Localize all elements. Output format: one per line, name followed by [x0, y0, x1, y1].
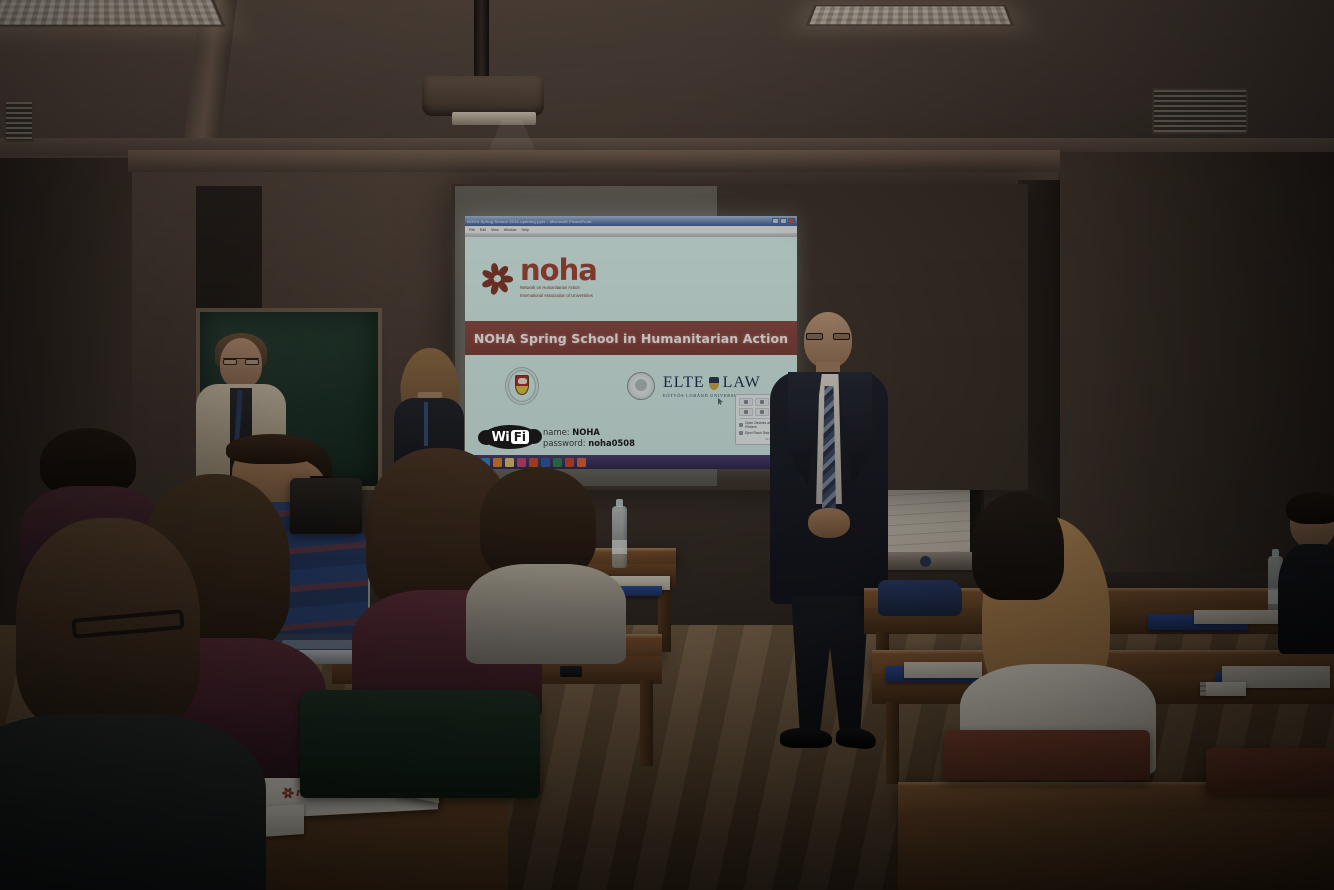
slide-app-title: NOHA Spring School 2016 opening.pptx - M…: [467, 219, 592, 224]
hair: [1286, 492, 1334, 524]
popup-device-icon[interactable]: [739, 408, 753, 416]
desk-front-panel: [898, 812, 1334, 890]
lanyard: [424, 402, 428, 446]
slide-title: NOHA Spring School in Humanitarian Actio…: [474, 331, 788, 346]
shoe-left: [780, 728, 832, 748]
chair: [944, 730, 1150, 780]
projector-lens-icon: [452, 112, 536, 125]
elte-shield-icon: [709, 377, 719, 390]
adobe-reader-icon[interactable]: [577, 458, 586, 467]
light-top: [466, 564, 626, 664]
slide-app-menubar[interactable]: File Edit View Window Help: [465, 226, 797, 233]
noha-logo: noha Network on Humanitarian Action Inte…: [481, 259, 597, 299]
word-icon[interactable]: [541, 458, 550, 467]
projector-mount-arm: [474, 0, 489, 80]
lecture-hall-photo: NOHA Spring School 2016 opening.pptx - M…: [0, 0, 1334, 890]
projected-slide: NOHA Spring School 2016 opening.pptx - M…: [465, 216, 797, 469]
wifi-name-value: NOHA: [572, 427, 600, 437]
noha-flower-icon: [481, 263, 513, 295]
eject-icon: [739, 431, 743, 435]
wifi-password-row: password: noha0508: [543, 438, 635, 448]
backpack: [878, 580, 962, 616]
wifi-badge-fi: Fi: [511, 430, 528, 444]
powerpoint-icon[interactable]: [565, 458, 574, 467]
wall-vent-right-icon: [1152, 88, 1248, 134]
menu-item-edit[interactable]: Edit: [480, 228, 486, 232]
popup-device-icon[interactable]: [739, 398, 753, 406]
slide-footer-region: ELTE LAW EÖTVÖS LORÁND UNIVERSITY Wi Fi: [465, 355, 797, 455]
desk-leg: [886, 702, 899, 784]
ceiling-light-panel: [806, 5, 1015, 26]
chair: [290, 478, 362, 534]
wall-soffit: [128, 150, 1060, 172]
spiral-notebook: [1200, 682, 1246, 696]
university-crest-icon: [505, 367, 539, 405]
noha-wordmark: noha: [520, 259, 597, 283]
trousers: [786, 596, 874, 738]
wifi-info: Wi Fi name: NOHA password: noha0508: [483, 425, 635, 449]
slide-canvas: noha Network on Humanitarian Action Inte…: [465, 237, 797, 469]
noha-tagline-line-2: International Association of Universitie…: [520, 293, 597, 299]
elte-seal-icon: [627, 372, 655, 400]
clasped-hands: [808, 508, 850, 538]
wifi-badge-wi: Wi: [491, 430, 509, 445]
slide-app-titlebar: NOHA Spring School 2016 opening.pptx - M…: [465, 216, 797, 226]
hair: [972, 492, 1064, 600]
flipchart-knob: [920, 556, 931, 567]
menu-item-window[interactable]: Window: [504, 228, 517, 232]
attendee-far-right: [1284, 496, 1334, 666]
wifi-password-value: noha0508: [588, 438, 635, 448]
slide-title-band: NOHA Spring School in Humanitarian Actio…: [465, 321, 797, 355]
ceiling-light-panel: [0, 0, 226, 27]
menu-item-help[interactable]: Help: [522, 228, 529, 232]
attendee-foreground-hoodie: [0, 518, 280, 890]
devices-icon: [739, 423, 743, 427]
wifi-logo-icon: Wi Fi: [483, 425, 537, 449]
glasses-icon: [223, 358, 259, 364]
close-icon[interactable]: [788, 218, 795, 224]
wifi-name-label: name:: [543, 427, 570, 437]
elte-law-label: LAW: [723, 374, 761, 392]
glasses-icon: [806, 333, 850, 340]
dark-hoodie: [0, 714, 266, 890]
excel-icon[interactable]: [553, 458, 562, 467]
menu-item-view[interactable]: View: [491, 228, 499, 232]
printed-papers: [1194, 610, 1280, 624]
slide-header-region: noha Network on Humanitarian Action Inte…: [465, 237, 797, 321]
attendee-bun-hair: [470, 468, 620, 658]
menu-item-file[interactable]: File: [469, 228, 475, 232]
head: [804, 312, 852, 368]
wifi-name-row: name: NOHA: [543, 427, 635, 437]
maximize-icon[interactable]: [780, 218, 787, 224]
chair: [1206, 748, 1334, 794]
wifi-password-label: password:: [543, 438, 586, 448]
hair: [226, 434, 318, 464]
torso: [1278, 544, 1334, 654]
shoe-right: [835, 726, 877, 750]
smartphone[interactable]: [560, 666, 582, 677]
ceiling-projector: [422, 76, 544, 116]
minimize-icon[interactable]: [772, 218, 779, 224]
green-coat-on-chair: [300, 690, 540, 798]
desk-leg: [640, 680, 653, 766]
attendee-dark-hair-glasses: [972, 492, 1076, 612]
noha-flower-icon: [282, 787, 293, 798]
window-controls[interactable]: [772, 218, 795, 224]
elte-label: ELTE: [663, 374, 705, 392]
wall-vent-left-icon: [4, 100, 34, 142]
